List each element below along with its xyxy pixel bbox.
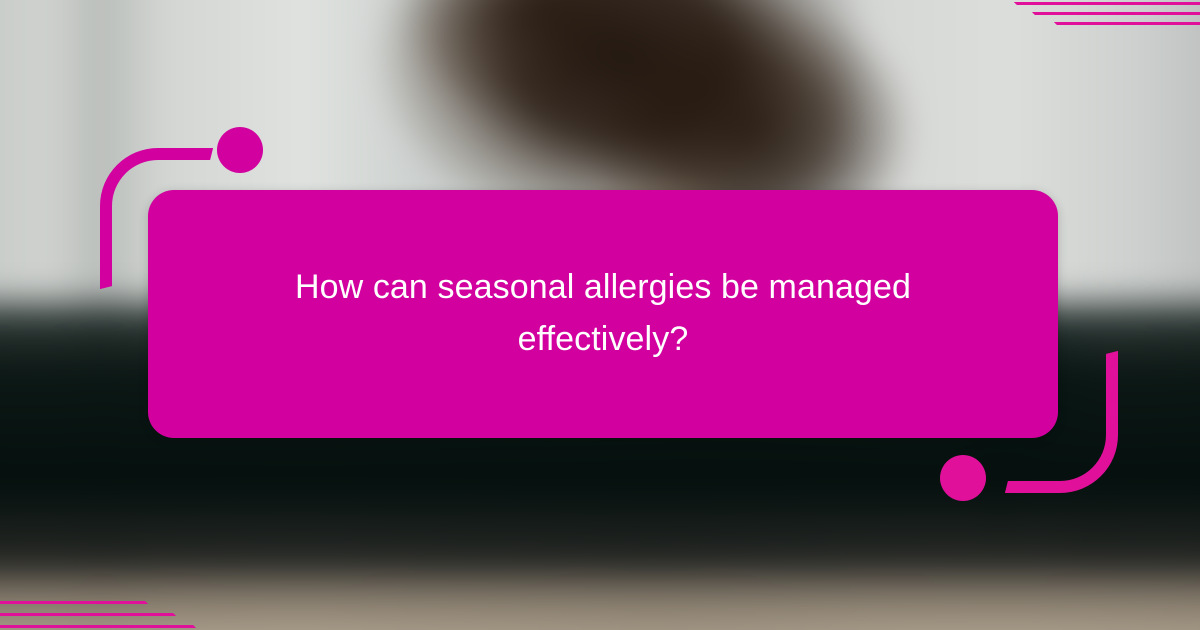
accent-dot-bottom-right: [940, 455, 986, 501]
question-card: How can seasonal allergies be managed ef…: [148, 190, 1058, 438]
question-card-banner: How can seasonal allergies be managed ef…: [0, 0, 1200, 630]
accent-dot-top-left: [217, 127, 263, 173]
background-desk-surface: [0, 571, 1200, 630]
question-text: How can seasonal allergies be managed ef…: [213, 262, 993, 365]
